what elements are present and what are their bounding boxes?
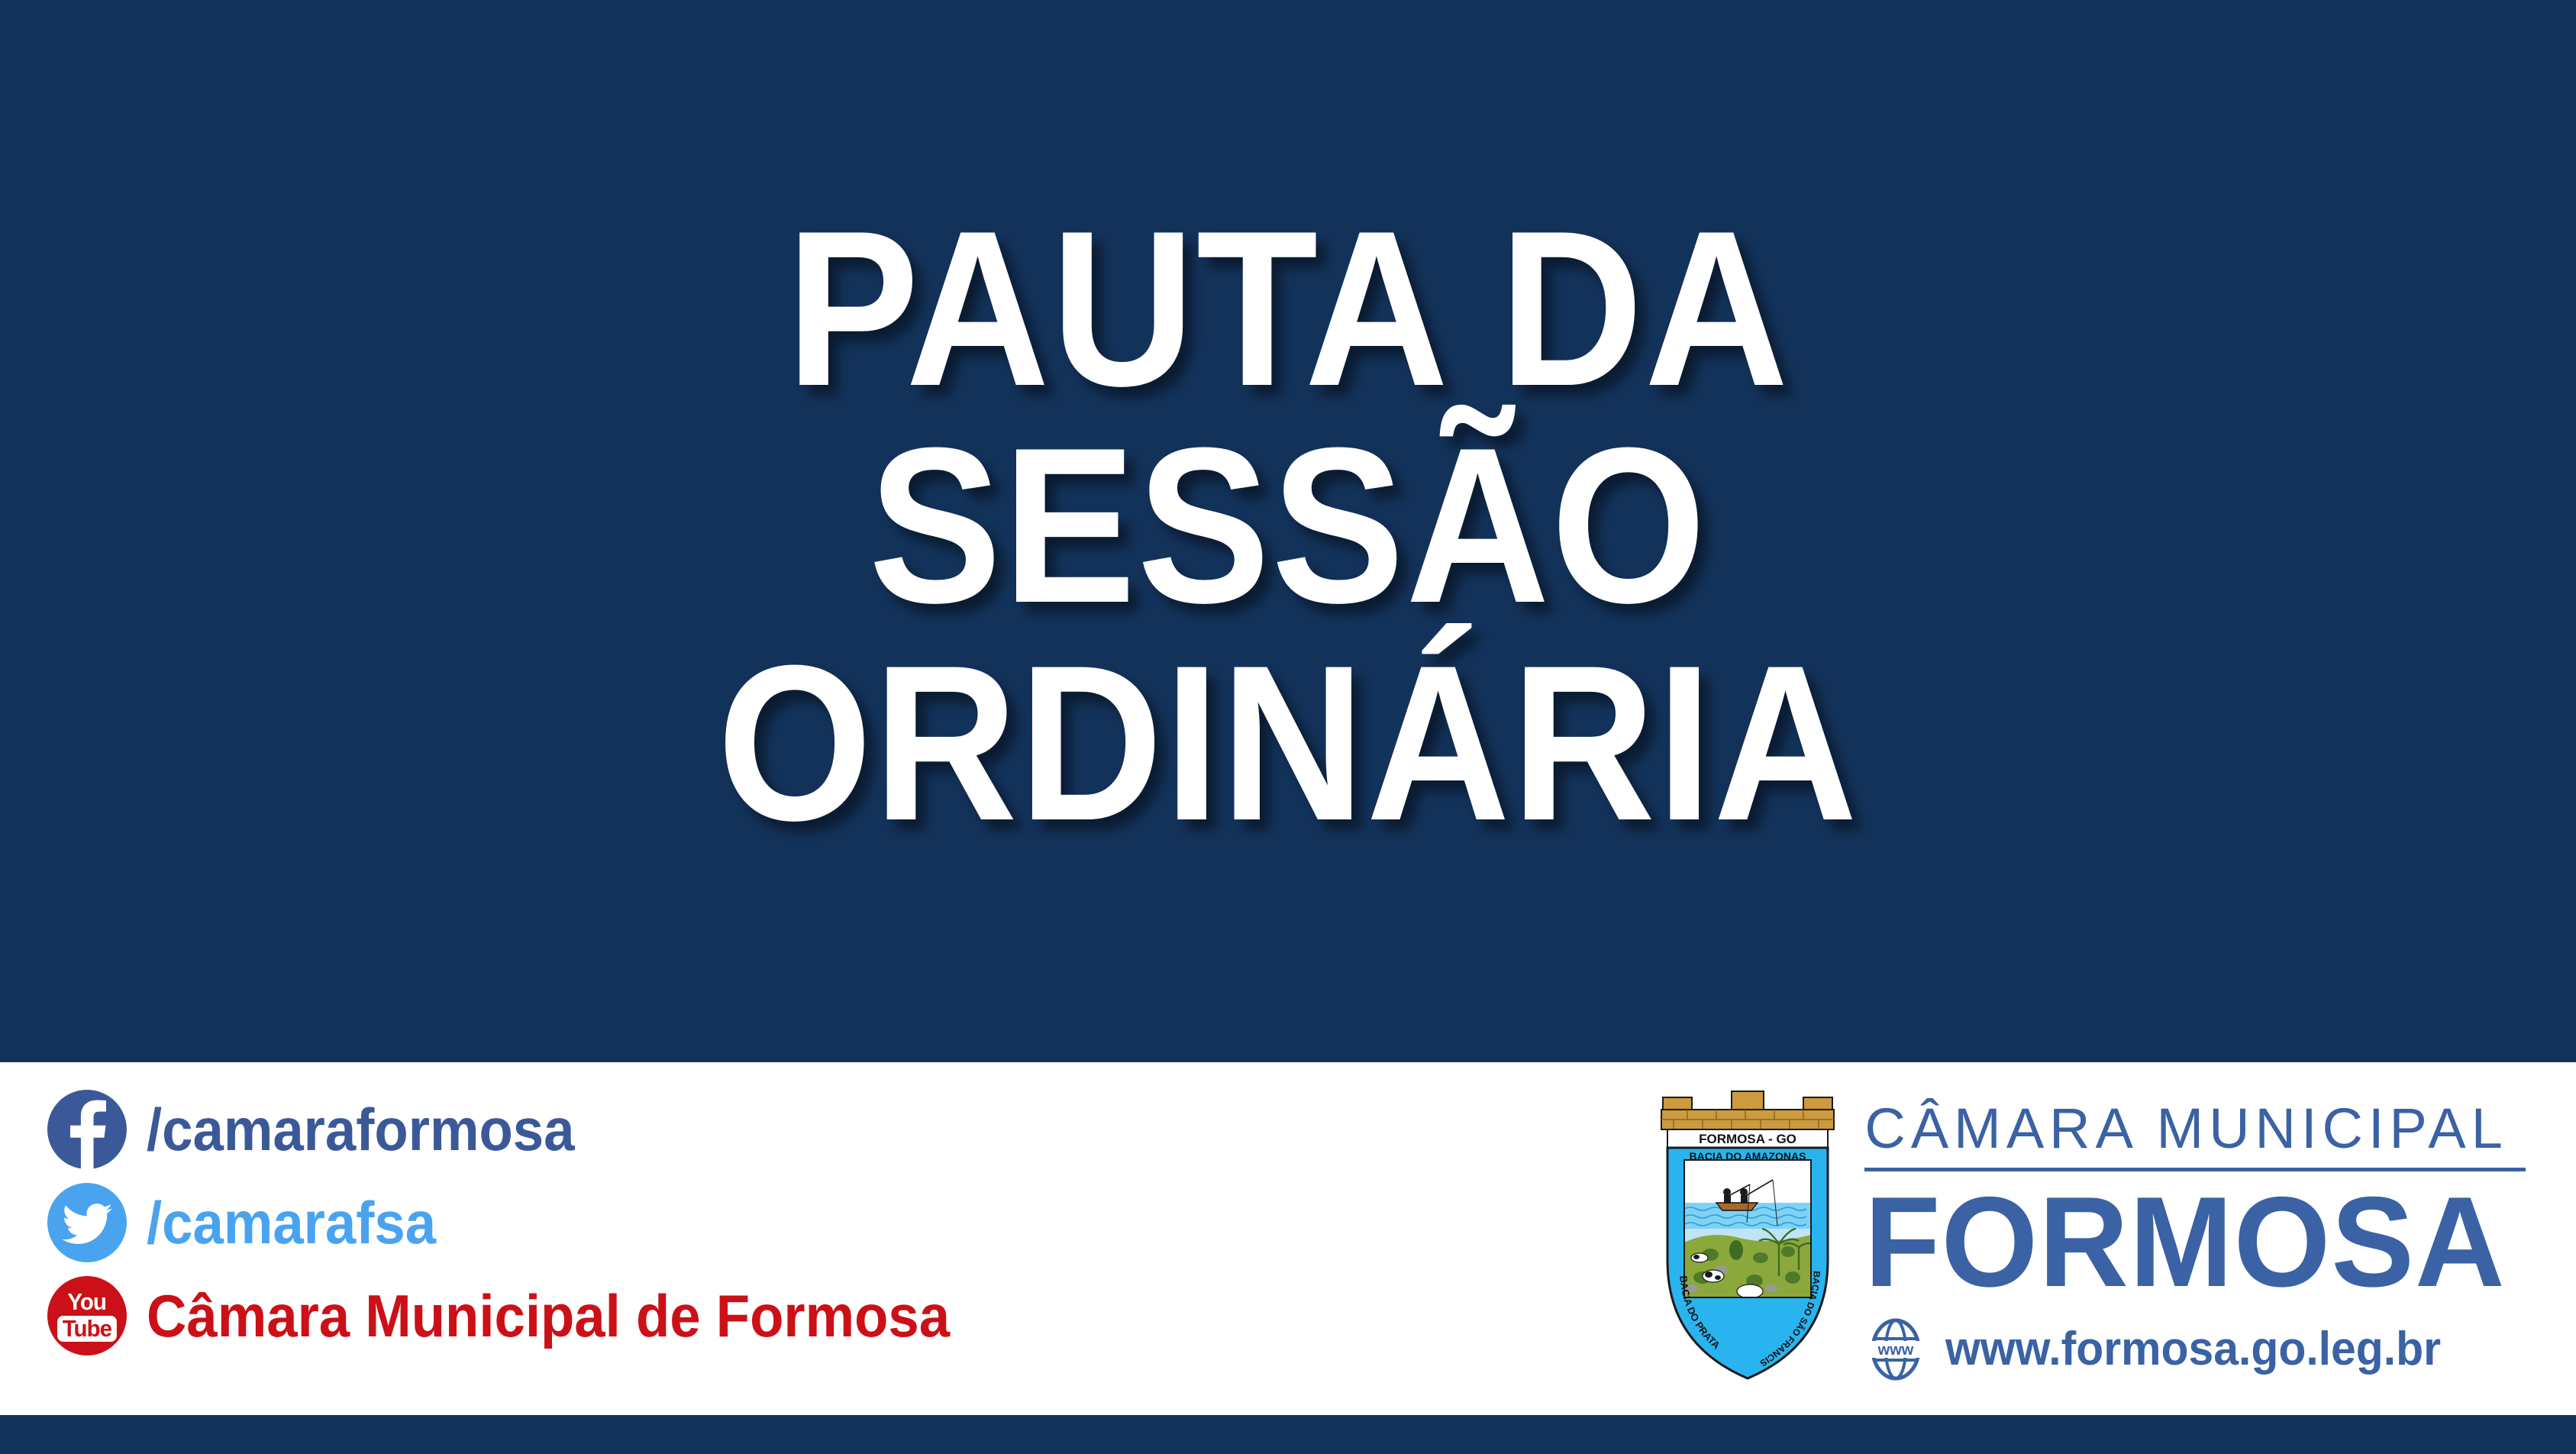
crest-city-band: FORMOSA - GO (1667, 1129, 1828, 1148)
bottom-accent-strip (0, 1415, 2576, 1454)
twitter-handle-label: /camarafsa (147, 1193, 436, 1252)
website-row[interactable]: www www.formosa.go.leg.br (1864, 1318, 2526, 1381)
social-link-facebook[interactable]: /camaraformosa (47, 1090, 1010, 1169)
crest-wall-crown (1661, 1091, 1834, 1129)
title-line-2: SESSÃO (129, 417, 2448, 634)
website-url-label[interactable]: www.formosa.go.leg.br (1945, 1326, 2441, 1373)
youtube-channel-label: Câmara Municipal de Formosa (147, 1286, 950, 1346)
youtube-glyph-tube: Tube (57, 1316, 117, 1342)
facebook-icon[interactable] (47, 1090, 127, 1169)
institution-name: CÂMARA MUNICIPAL (1864, 1100, 2526, 1157)
brand-lockup: FORMOSA - GO BACIA DO AMAZONAS (1657, 1081, 2526, 1401)
social-link-youtube[interactable]: You Tube Câmara Municipal de Formosa (47, 1276, 1010, 1355)
twitter-icon[interactable] (47, 1183, 127, 1262)
youtube-icon[interactable]: You Tube (47, 1276, 127, 1355)
svg-text:FORMOSA - GO: FORMOSA - GO (1699, 1132, 1796, 1146)
svg-text:www: www (1877, 1342, 1914, 1359)
city-wordmark: FORMOSA (1864, 1178, 2506, 1306)
youtube-glyph-you: You (68, 1290, 107, 1313)
title-line-1: PAUTA DA (129, 200, 2448, 417)
title-line-3: ORDINÁRIA (129, 635, 2448, 851)
social-links-list: /camaraformosa /camarafsa You Tube (47, 1090, 1010, 1355)
footer-bar: /camaraformosa /camarafsa You Tube (0, 1062, 2576, 1415)
page-title: PAUTA DA SESSÃO ORDINÁRIA (129, 200, 2448, 862)
poster-root: PAUTA DA SESSÃO ORDINÁRIA /camaraformosa (0, 0, 2576, 1454)
facebook-handle-label: /camaraformosa (147, 1100, 574, 1159)
brand-text-block: CÂMARA MUNICIPAL FORMOSA www (1864, 1081, 2526, 1381)
hero-banner: PAUTA DA SESSÃO ORDINÁRIA (0, 0, 2576, 1062)
coat-of-arms-icon: FORMOSA - GO BACIA DO AMAZONAS (1657, 1081, 1838, 1386)
social-link-twitter[interactable]: /camarafsa (47, 1183, 1010, 1262)
crest-inner-scene (1684, 1160, 1814, 1298)
youtube-wordmark: You Tube (56, 1290, 118, 1342)
globe-www-icon: www (1864, 1318, 1927, 1381)
